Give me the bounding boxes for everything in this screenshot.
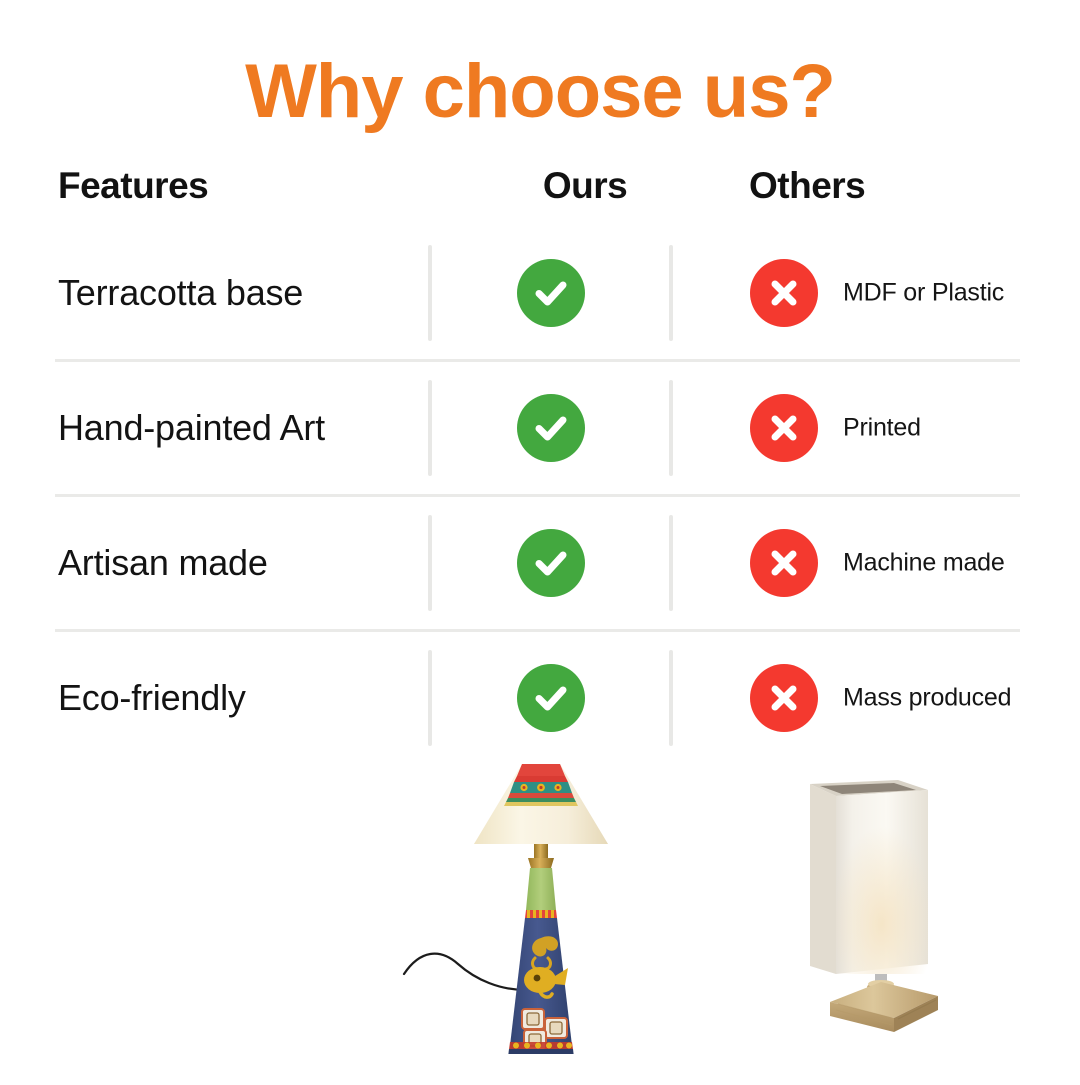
column-divider	[669, 245, 673, 341]
others-value-label: Mass produced	[843, 684, 1011, 713]
check-icon	[517, 529, 585, 597]
lamp-others-image	[768, 770, 958, 1038]
column-header-others: Others	[749, 165, 865, 207]
table-row: Terracotta base MDF or Plastic	[55, 227, 1020, 359]
column-divider	[669, 515, 673, 611]
column-divider	[428, 380, 432, 476]
table-row: Artisan made Machine made	[55, 494, 1020, 629]
column-divider	[428, 245, 432, 341]
feature-label: Artisan made	[58, 542, 268, 584]
cross-icon	[750, 664, 818, 732]
comparison-table: Features Ours Others Terracotta base MDF…	[55, 165, 1020, 764]
check-icon	[517, 394, 585, 462]
product-image-row	[0, 752, 1080, 1080]
feature-label: Hand-painted Art	[58, 407, 325, 449]
table-row: Hand-painted Art Printed	[55, 359, 1020, 494]
column-header-features: Features	[58, 165, 208, 207]
column-divider	[428, 650, 432, 746]
check-icon	[517, 664, 585, 732]
others-value-label: Printed	[843, 414, 921, 443]
cross-icon	[750, 394, 818, 462]
others-value-label: Machine made	[843, 549, 1005, 578]
column-divider	[669, 650, 673, 746]
column-divider	[669, 380, 673, 476]
cross-icon	[750, 529, 818, 597]
check-icon	[517, 259, 585, 327]
lamp-ours-image	[396, 752, 686, 1080]
others-value-label: MDF or Plastic	[843, 279, 1004, 308]
table-header-row: Features Ours Others	[55, 165, 1020, 227]
feature-label: Terracotta base	[58, 272, 303, 314]
column-header-ours: Ours	[495, 165, 675, 207]
column-divider	[428, 515, 432, 611]
feature-label: Eco-friendly	[58, 677, 246, 719]
page-title: Why choose us?	[0, 48, 1080, 135]
cross-icon	[750, 259, 818, 327]
table-row: Eco-friendly Mass produced	[55, 629, 1020, 764]
